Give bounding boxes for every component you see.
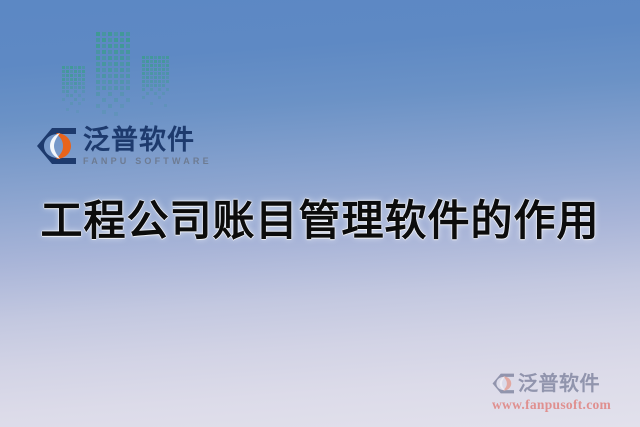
promo-banner: 泛普软件 FANPU SOFTWARE 工程公司账目管理软件的作用 泛普软件 w…	[0, 0, 640, 427]
watermark-name-cn: 泛普软件	[518, 374, 600, 394]
logo-name-en: FANPU SOFTWARE	[83, 157, 212, 166]
watermark-logo-mark-icon	[492, 373, 514, 394]
brand-logo: 泛普软件 FANPU SOFTWARE	[36, 126, 212, 166]
logo-name-cn: 泛普软件	[83, 126, 212, 154]
watermark: 泛普软件 www.fanpusoft.com	[492, 373, 624, 413]
watermark-logo-row: 泛普软件	[492, 373, 624, 394]
watermark-url: www.fanpusoft.com	[492, 397, 624, 413]
page-title: 工程公司账目管理软件的作用	[0, 196, 640, 246]
pixel-skyline-decoration	[62, 26, 174, 118]
fanpu-logo-mark-icon	[36, 127, 76, 165]
logo-wordmark: 泛普软件 FANPU SOFTWARE	[83, 126, 212, 166]
